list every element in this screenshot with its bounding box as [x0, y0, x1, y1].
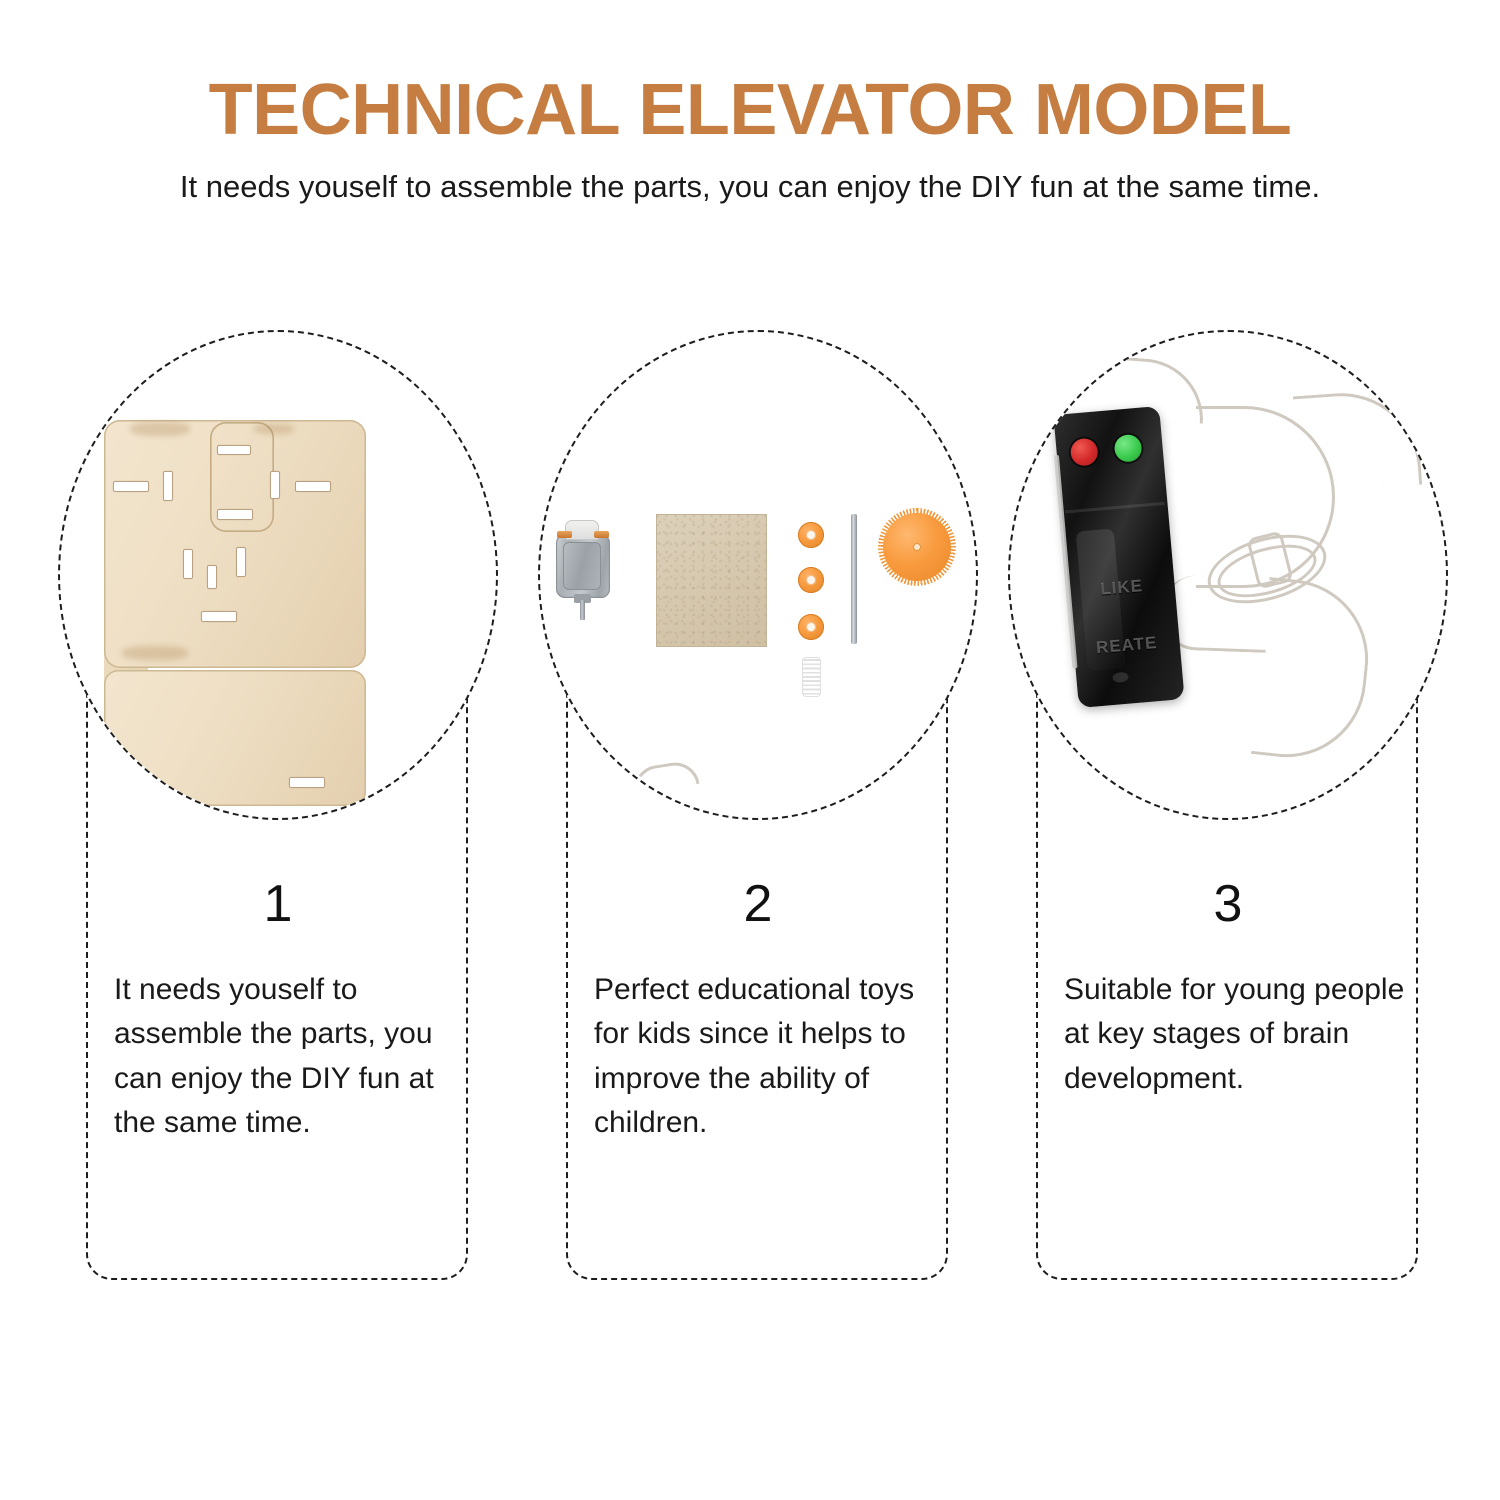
dc-motor	[554, 520, 612, 612]
plywood-slot	[271, 472, 279, 498]
plywood-slot	[296, 482, 330, 491]
large-orange-gear	[878, 508, 956, 586]
pulley-washer	[798, 614, 824, 640]
parts-photo	[540, 332, 976, 818]
panel-3-photo-circle: LIKE REATE	[1008, 330, 1448, 820]
feature-panel-2: 2 Perfect educational toys for kids sinc…	[538, 330, 978, 1290]
plywood-slot	[114, 482, 148, 491]
laser-burn-mark	[122, 646, 188, 660]
motor-terminal-left	[557, 531, 572, 538]
sandpaper-sheet	[656, 514, 767, 647]
green-button[interactable]	[1113, 434, 1142, 463]
panel-3-number: 3	[1008, 878, 1448, 930]
laser-burn-mark	[254, 424, 294, 434]
plywood-slot	[202, 612, 236, 621]
panel-2-photo-circle	[538, 330, 978, 820]
battery-box-photo: LIKE REATE	[1010, 332, 1446, 818]
panel-1-photo-circle	[58, 330, 498, 820]
stray-wire-segment	[630, 759, 699, 794]
metal-axle-rod	[851, 514, 857, 644]
red-button[interactable]	[1070, 438, 1099, 467]
plywood-photo	[60, 332, 496, 818]
panel-2-number: 2	[538, 878, 978, 930]
motor-face-plate	[563, 542, 601, 590]
plywood-slot	[290, 778, 324, 787]
plywood-slot	[218, 510, 252, 519]
panel-1-number: 1	[58, 878, 498, 930]
plywood-slot	[132, 786, 164, 795]
motor-shaft	[580, 600, 585, 620]
panel-1-description: It needs youself to assemble the parts, …	[114, 968, 466, 1146]
page-subtitle: It needs youself to assemble the parts, …	[0, 146, 1500, 204]
header: TECHNICAL ELEVATOR MODEL It needs yousel…	[0, 0, 1500, 204]
panel-2-description: Perfect educational toys for kids since …	[594, 968, 946, 1146]
plywood-slot	[208, 566, 216, 588]
pulley-washer	[798, 522, 824, 548]
wire-loop	[1251, 577, 1376, 765]
plywood-front-panel	[104, 420, 366, 668]
laser-burn-mark	[130, 422, 190, 436]
gear-center-hole	[913, 543, 921, 551]
plywood-slot	[184, 550, 192, 578]
panel-3-description: Suitable for young people at key stages …	[1064, 968, 1416, 1101]
plywood-slot	[164, 472, 172, 500]
plywood-base-panel	[104, 670, 366, 806]
battery-box-case: LIKE REATE	[1053, 406, 1184, 708]
motor-terminal-right	[594, 531, 609, 538]
plywood-assembly	[104, 420, 498, 820]
pulley-washer	[798, 567, 824, 593]
worm-gear	[802, 657, 821, 697]
battery-box-seam	[1065, 502, 1165, 514]
battery-box-edge-lip	[1054, 455, 1078, 669]
plywood-slot	[218, 446, 250, 454]
battery-box-dent	[1112, 672, 1129, 683]
plywood-slot	[237, 548, 245, 576]
page-title: TECHNICAL ELEVATOR MODEL	[0, 0, 1500, 146]
feature-panel-3: LIKE REATE 3 Suitable for young people a…	[1008, 330, 1448, 1290]
feature-panel-1: 1 It needs youself to assemble the parts…	[58, 330, 498, 1290]
